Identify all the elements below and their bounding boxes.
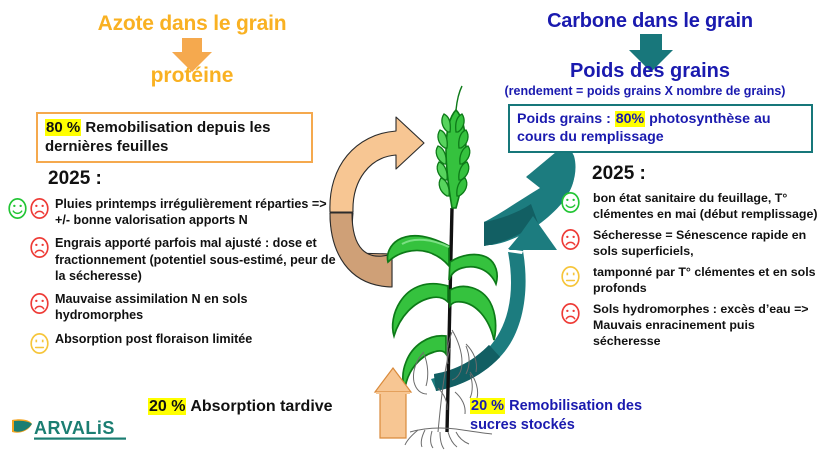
face-group <box>560 227 588 251</box>
sad-red-icon <box>29 292 50 315</box>
list-item: Mauvaise assimilation N en sols hydromor… <box>6 291 336 323</box>
right-subtitle-note: (rendement = poids grains X nombre de gr… <box>470 84 820 98</box>
list-item-text: Sécheresse = Sénescence rapide en sols s… <box>588 227 818 259</box>
left-title: Azote dans le grain <box>42 12 342 36</box>
left-year-heading: 2025 : <box>48 168 102 190</box>
left-bullet-list: Pluies printemps irrégulièrement réparti… <box>6 196 336 362</box>
right-box-prefix: Poids grains : <box>517 111 615 127</box>
face-group <box>560 190 588 214</box>
infographic-canvas: Azote dans le grain protéine 80 % Remobi… <box>0 0 820 456</box>
right-highlight-box: Poids grains : 80% photosynthèse au cour… <box>508 104 813 153</box>
right-year-heading: 2025 : <box>592 163 646 185</box>
sad-red-icon <box>29 197 50 220</box>
left-subtitle: protéine <box>42 64 342 88</box>
left-box-percent: 80 % <box>45 119 81 136</box>
face-group <box>6 331 50 355</box>
sad-red-icon <box>560 302 581 325</box>
list-item-text: Absorption post floraison limitée <box>50 331 252 347</box>
left-bottom-text: Absorption tardive <box>186 398 332 415</box>
face-group <box>560 264 588 288</box>
logo-underline <box>34 438 126 440</box>
face-group <box>6 235 50 259</box>
face-group <box>6 291 50 315</box>
neutral-yellow-icon <box>560 265 581 288</box>
face-group <box>6 196 50 220</box>
list-item: Sols hydromorphes : excès d’eau => Mauva… <box>560 301 818 349</box>
happy-green-icon <box>560 191 581 214</box>
right-bottom-label: 20 % Remobilisation des sucres stockés <box>470 397 670 435</box>
list-item: Sécheresse = Sénescence rapide en sols s… <box>560 227 818 259</box>
neutral-yellow-icon <box>29 332 50 355</box>
list-item-text: bon état sanitaire du feuillage, T° clém… <box>588 190 818 222</box>
leaf-icon <box>12 419 32 433</box>
list-item-text: Mauvaise assimilation N en sols hydromor… <box>50 291 336 323</box>
right-bullet-list: bon état sanitaire du feuillage, T° clém… <box>560 190 818 354</box>
list-item-text: Pluies printemps irrégulièrement réparti… <box>50 196 336 228</box>
sad-red-icon <box>29 236 50 259</box>
curved-arrow-teal-lower-icon <box>431 216 557 392</box>
left-highlight-box: 80 % Remobilisation depuis les dernières… <box>36 112 313 163</box>
list-item: Engrais apporté parfois mal ajusté : dos… <box>6 235 336 284</box>
logo-wordmark: ARVALiS <box>34 418 115 438</box>
face-group <box>560 301 588 325</box>
list-item: bon état sanitaire du feuillage, T° clém… <box>560 190 818 222</box>
sad-red-icon <box>560 228 581 251</box>
left-bottom-percent: 20 % <box>148 398 186 415</box>
wheat-plant-icon <box>387 86 497 449</box>
up-arrow-orange-icon <box>375 368 411 438</box>
happy-green-icon <box>7 197 28 220</box>
list-item-text: Sols hydromorphes : excès d’eau => Mauva… <box>588 301 818 349</box>
right-title: Carbone dans le grain <box>480 10 820 33</box>
curved-arrow-orange-icon <box>330 117 424 287</box>
list-item: Pluies printemps irrégulièrement réparti… <box>6 196 336 228</box>
arvalis-logo: ARVALiS <box>8 414 138 448</box>
right-subtitle: Poids des grains <box>480 60 820 83</box>
list-item-text: Engrais apporté parfois mal ajusté : dos… <box>50 235 336 284</box>
left-bottom-label: 20 % Absorption tardive <box>148 398 333 416</box>
list-item-text: tamponné par T° clémentes et en sols pro… <box>588 264 818 296</box>
list-item: tamponné par T° clémentes et en sols pro… <box>560 264 818 296</box>
right-box-percent: 80% <box>615 111 645 127</box>
list-item: Absorption post floraison limitée <box>6 331 336 355</box>
right-bottom-percent: 20 % <box>470 398 505 414</box>
